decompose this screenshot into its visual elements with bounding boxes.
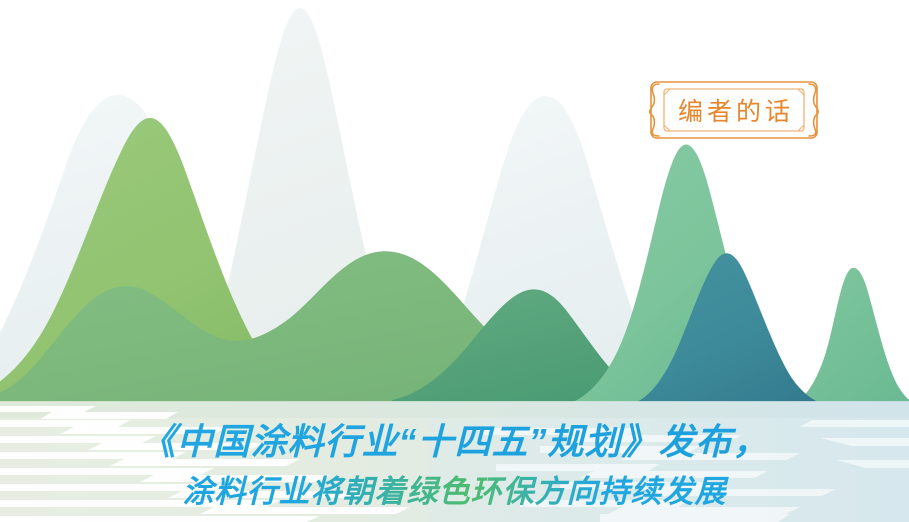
editor-note-badge-label: 编者的话: [645, 79, 823, 141]
editor-note-badge[interactable]: 编者的话: [645, 79, 823, 141]
water-tint-right: [430, 418, 909, 522]
poster-canvas: 编者的话 《中国涂料行业“十四五”规划》发布， 涂料行业将朝着绿色环保方向持续发…: [0, 0, 909, 522]
